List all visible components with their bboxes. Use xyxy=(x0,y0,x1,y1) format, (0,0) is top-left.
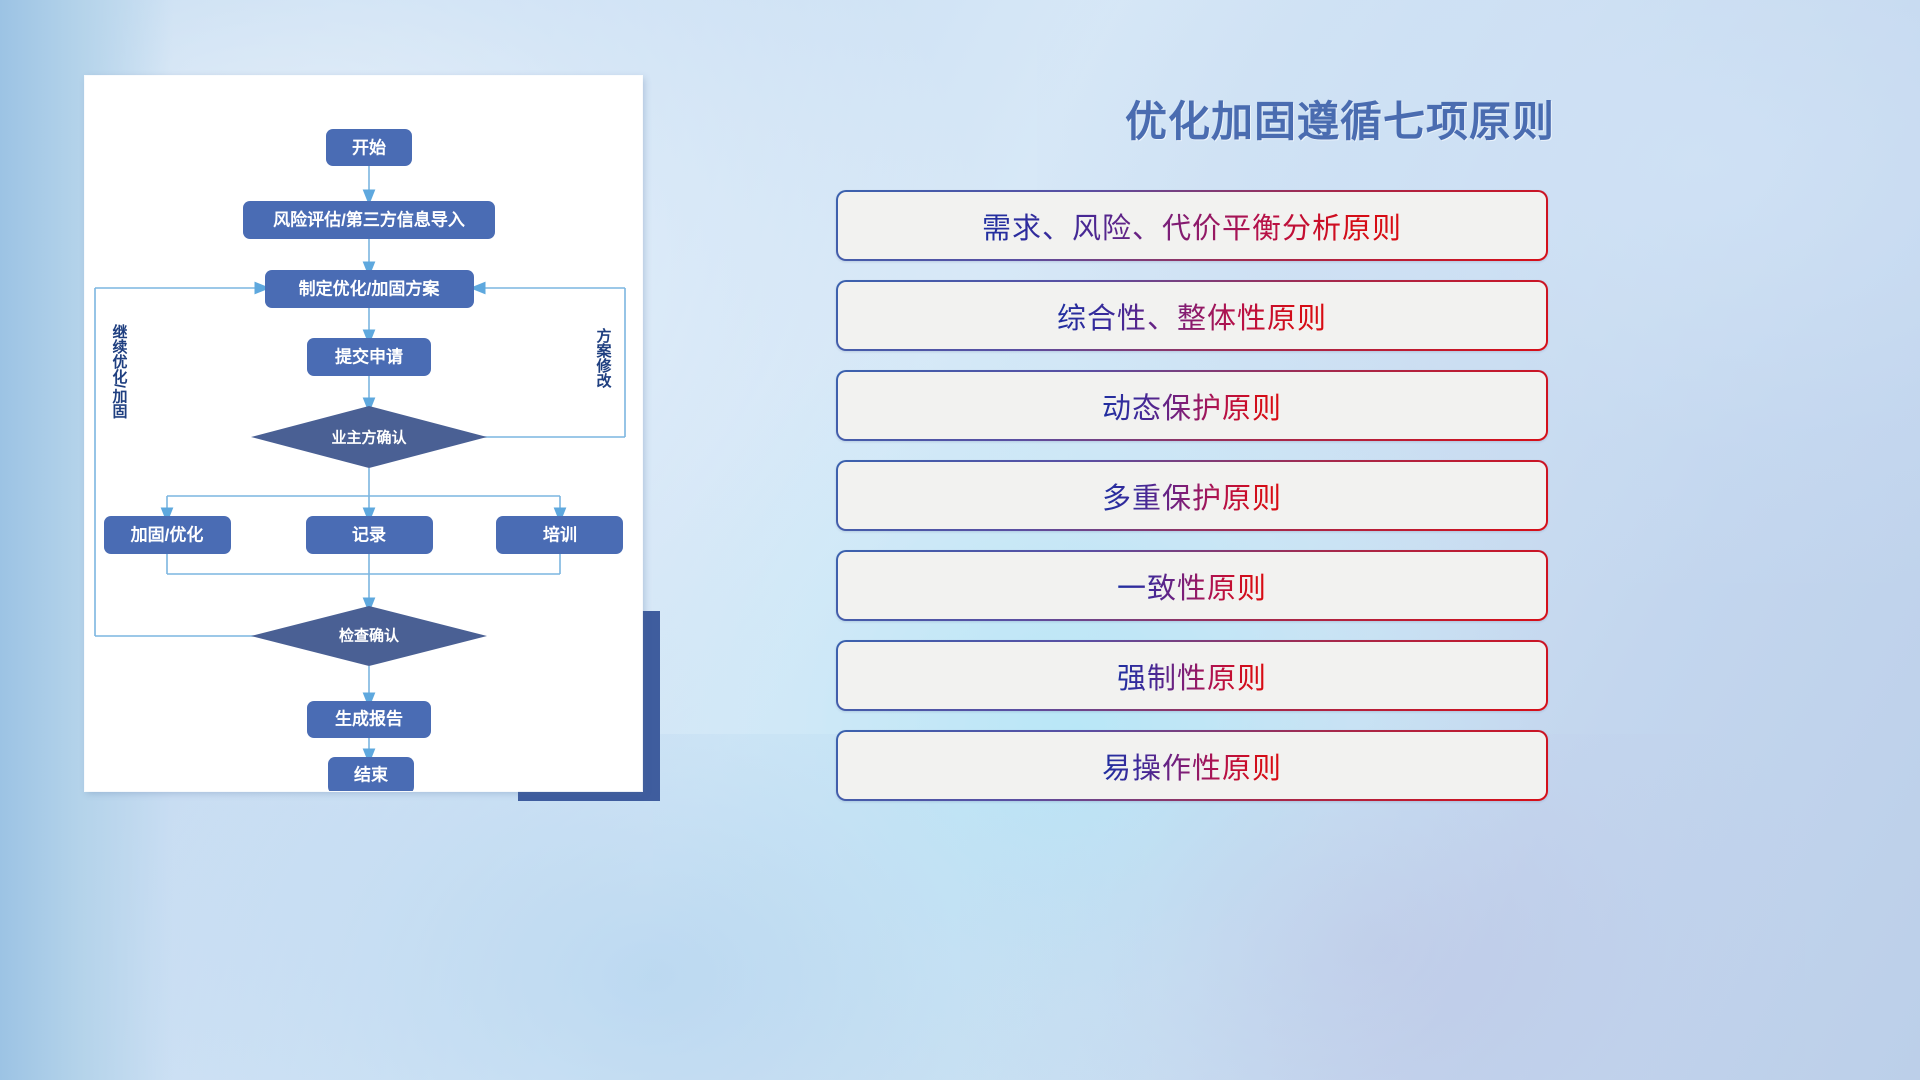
flow-node-end-label: 结束 xyxy=(354,765,388,785)
flow-node-training-label: 培训 xyxy=(543,525,577,545)
flow-node-training[interactable]: 培训 xyxy=(496,516,623,554)
principle-card-4[interactable]: 多重保护原则 xyxy=(836,460,1548,531)
principle-card-7-inner: 易操作性原则 xyxy=(838,732,1546,799)
principle-card-5[interactable]: 一致性原则 xyxy=(836,550,1548,621)
flow-node-end[interactable]: 结束 xyxy=(328,757,414,791)
principle-card-5-label: 一致性原则 xyxy=(1117,565,1267,607)
flow-node-risk-assessment-label: 风险评估/第三方信息导入 xyxy=(273,210,465,230)
flow-node-reinforce-optimize-label: 加固/优化 xyxy=(130,525,204,545)
principles-stage: 优化加固遵循七项原则 需求、风险、代价平衡分析原则 综合性、整体性原则 动态保护… xyxy=(760,0,1920,1080)
flow-node-check-confirm-label: 检查确认 xyxy=(339,627,400,645)
flowchart-panel: 开始 风险评估/第三方信息导入 制定优化/加固方案 提交申请 xyxy=(85,76,642,791)
principle-card-7[interactable]: 易操作性原则 xyxy=(836,730,1548,801)
flow-edge-label-left: 继续优化/加固 xyxy=(111,323,129,419)
principle-card-2-inner: 综合性、整体性原则 xyxy=(838,282,1546,349)
flow-node-owner-confirm-label: 业主方确认 xyxy=(331,429,407,447)
principle-card-1-label: 需求、风险、代价平衡分析原则 xyxy=(982,205,1402,247)
flow-node-check-confirm[interactable]: 检查确认 xyxy=(251,606,487,666)
flow-node-start[interactable]: 开始 xyxy=(326,129,412,166)
principle-card-3-inner: 动态保护原则 xyxy=(838,372,1546,439)
principle-card-1[interactable]: 需求、风险、代价平衡分析原则 xyxy=(836,190,1548,261)
flow-node-generate-report-label: 生成报告 xyxy=(335,709,403,729)
principle-card-6-label: 强制性原则 xyxy=(1117,655,1267,697)
flow-edge-label-right: 方案修改 xyxy=(595,327,613,389)
flow-node-record[interactable]: 记录 xyxy=(306,516,433,554)
flow-node-record-label: 记录 xyxy=(352,526,386,545)
page-title: 优化加固遵循七项原则 xyxy=(760,88,1920,149)
principle-card-2-label: 综合性、整体性原则 xyxy=(1057,295,1327,337)
principles-list: 需求、风险、代价平衡分析原则 综合性、整体性原则 动态保护原则 多重保护原则 一… xyxy=(836,190,1548,820)
principle-card-4-inner: 多重保护原则 xyxy=(838,462,1546,529)
flow-node-submit-application-label: 提交申请 xyxy=(335,347,403,367)
flow-node-start-label: 开始 xyxy=(352,138,386,158)
flow-nodes: 开始 风险评估/第三方信息导入 制定优化/加固方案 提交申请 xyxy=(104,129,623,791)
principle-card-6[interactable]: 强制性原则 xyxy=(836,640,1548,711)
flowchart-svg: 开始 风险评估/第三方信息导入 制定优化/加固方案 提交申请 xyxy=(85,76,642,791)
principle-card-4-label: 多重保护原则 xyxy=(1102,475,1282,517)
principle-card-6-inner: 强制性原则 xyxy=(838,642,1546,709)
flow-node-submit-application[interactable]: 提交申请 xyxy=(307,338,431,376)
flow-node-owner-confirm[interactable]: 业主方确认 xyxy=(251,406,487,468)
principle-card-7-label: 易操作性原则 xyxy=(1102,745,1282,787)
principle-card-1-inner: 需求、风险、代价平衡分析原则 xyxy=(838,192,1546,259)
flow-node-risk-assessment[interactable]: 风险评估/第三方信息导入 xyxy=(243,201,495,239)
principle-card-2[interactable]: 综合性、整体性原则 xyxy=(836,280,1548,351)
flow-node-generate-report[interactable]: 生成报告 xyxy=(307,701,431,738)
flow-node-make-plan[interactable]: 制定优化/加固方案 xyxy=(265,270,474,308)
flowchart-stage: 开始 风险评估/第三方信息导入 制定优化/加固方案 提交申请 xyxy=(0,0,760,1080)
principle-card-3-label: 动态保护原则 xyxy=(1102,385,1282,427)
flow-node-reinforce-optimize[interactable]: 加固/优化 xyxy=(104,516,231,554)
principle-card-5-inner: 一致性原则 xyxy=(838,552,1546,619)
flow-node-make-plan-label: 制定优化/加固方案 xyxy=(299,279,441,299)
principle-card-3[interactable]: 动态保护原则 xyxy=(836,370,1548,441)
